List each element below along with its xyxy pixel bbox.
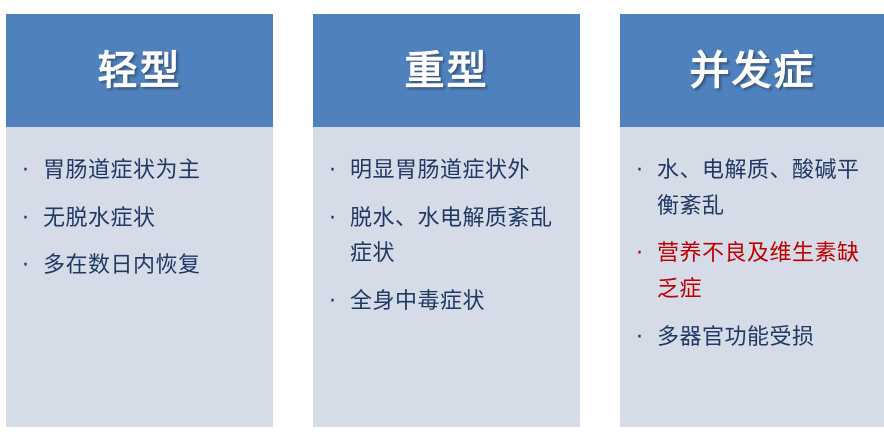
bullet-list-mild: · 胃肠道症状为主 · 无脱水症状 · 多在数日内恢复 [18,153,263,284]
card-title-severe: 重型 [405,51,489,91]
list-item: · 水、电解质、酸碱平衡紊乱 [632,153,875,224]
card-header-mild: 轻型 [6,14,273,127]
list-item: · 明显胃肠道症状外 [325,153,570,189]
bullet-dot-icon: · [636,236,644,272]
list-item-label: 明显胃肠道症状外 [350,158,530,183]
bullet-dot-icon: · [22,201,30,237]
category-card-mild[interactable]: 轻型 · 胃肠道症状为主 · 无脱水症状 · 多在数日内恢复 [6,14,273,427]
list-item-label: 全身中毒症状 [350,289,485,314]
bullet-dot-icon: · [22,153,30,189]
card-body-mild: · 胃肠道症状为主 · 无脱水症状 · 多在数日内恢复 [6,127,273,427]
slide-canvas: 轻型 · 胃肠道症状为主 · 无脱水症状 · 多在数日内恢复 [0,0,884,447]
list-item: · 胃肠道症状为主 [18,153,263,189]
card-header-severe: 重型 [313,14,580,127]
list-item-label: 无脱水症状 [43,206,156,231]
category-card-severe[interactable]: 重型 · 明显胃肠道症状外 · 脱水、水电解质紊乱症状 · 全身中毒症状 [313,14,580,427]
bullet-dot-icon: · [22,248,30,284]
list-item: · 多器官功能受损 [632,320,875,356]
bullet-dot-icon: · [329,284,337,320]
card-title-mild: 轻型 [98,51,182,91]
list-item-emphasized: · 营养不良及维生素缺乏症 [632,236,875,307]
list-item-label: 脱水、水电解质紊乱症状 [350,206,553,267]
list-item: · 脱水、水电解质紊乱症状 [325,201,570,272]
card-body-severe: · 明显胃肠道症状外 · 脱水、水电解质紊乱症状 · 全身中毒症状 [313,127,580,427]
bullet-dot-icon: · [636,320,644,356]
category-card-complications[interactable]: 并发症 · 水、电解质、酸碱平衡紊乱 · 营养不良及维生素缺乏症 · 多器官功能… [620,14,884,427]
bullet-dot-icon: · [329,153,337,189]
list-item-label: 多器官功能受损 [657,325,815,350]
bullet-list-severe: · 明显胃肠道症状外 · 脱水、水电解质紊乱症状 · 全身中毒症状 [325,153,570,320]
list-item-label: 营养不良及维生素缺乏症 [657,241,860,302]
list-item: · 全身中毒症状 [325,284,570,320]
list-item-label: 水、电解质、酸碱平衡紊乱 [657,158,860,219]
bullet-dot-icon: · [329,201,337,237]
list-item-label: 多在数日内恢复 [43,253,201,278]
list-item: · 无脱水症状 [18,201,263,237]
card-title-complications: 并发症 [690,51,816,91]
list-item-label: 胃肠道症状为主 [43,158,201,183]
category-columns: 轻型 · 胃肠道症状为主 · 无脱水症状 · 多在数日内恢复 [0,0,884,447]
bullet-list-complications: · 水、电解质、酸碱平衡紊乱 · 营养不良及维生素缺乏症 · 多器官功能受损 [632,153,875,355]
card-body-complications: · 水、电解质、酸碱平衡紊乱 · 营养不良及维生素缺乏症 · 多器官功能受损 [620,127,884,427]
bullet-dot-icon: · [636,153,644,189]
card-header-complications: 并发症 [620,14,884,127]
list-item: · 多在数日内恢复 [18,248,263,284]
